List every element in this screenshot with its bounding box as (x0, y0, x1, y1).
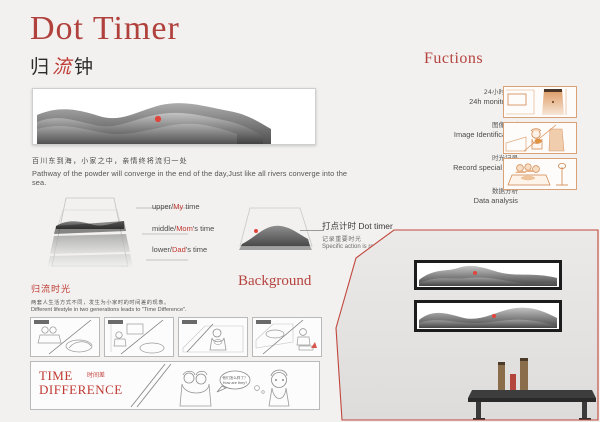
person-cooking-thumb (503, 122, 577, 154)
fuction-en: 24h monitoring (410, 97, 518, 106)
page-title: Dot Timer 归流钟 (30, 12, 180, 79)
interior-showcase (334, 228, 600, 422)
panel-noon (104, 317, 174, 357)
panel-time-tag (256, 320, 271, 324)
panel-time-tag (182, 320, 197, 324)
background-heading: Background (238, 273, 311, 290)
fuction-item-data-analysis: 数据分析 Data analysis (410, 185, 518, 205)
bubble-text-cn: 他们怎么样了？ (222, 375, 247, 380)
fuction-item-record-time: 时光记录 Record special time (410, 152, 518, 172)
title-cn-accent: 流 (52, 56, 74, 78)
fuction-en: Record special time (410, 163, 518, 172)
room-screen-thumb (503, 86, 577, 118)
dot-timer-leader-line (300, 230, 324, 231)
title-cn-right: 钟 (74, 56, 96, 78)
background-sub-cn: 两套人生活方式不同，发生为小家时的时间差的现象。 (31, 299, 187, 306)
panel-evening (178, 317, 248, 357)
fuction-cn: 时光记录 (410, 152, 518, 162)
time-difference-illustration: 他们怎么样了？ How are they? (127, 362, 319, 409)
time-difference-wordmark: TIME DIFFERENCE (39, 369, 123, 397)
title-cn-left: 归 (30, 56, 52, 78)
fuction-item-monitoring: 24小时监测 24h monitoring (410, 86, 518, 106)
fuction-cn: 数据分析 (410, 185, 518, 195)
title-chinese: 归流钟 (30, 52, 180, 79)
fuctions-heading: Fuctions (424, 50, 483, 68)
hero-caption-cn: 百川东到海，小家之中，亲情终将流归一处 (32, 156, 362, 166)
fuction-item-image-identification: 图像识别 Image Identification (410, 119, 518, 139)
fuction-en: Data analysis (410, 196, 518, 205)
hero-product-banner (32, 88, 316, 145)
fuction-cn: 图像识别 (410, 119, 518, 129)
panel-morning (30, 317, 100, 357)
time-difference-cn: 时间差 (87, 370, 105, 379)
background-head-cn: 归流时光 (31, 282, 187, 295)
poster-root: Dot Timer 归流钟 (0, 0, 600, 422)
interior-showcase-svg (334, 228, 600, 422)
hero-caption: 百川东到海，小家之中，亲情终将流归一处 Pathway of the powde… (32, 156, 362, 187)
family-table-thumb (503, 158, 577, 190)
fuction-cn: 24小时监测 (410, 86, 518, 96)
background-sub-en: Different lifestyle in two generations l… (31, 307, 187, 313)
time-difference-strip: TIME DIFFERENCE 时间差 他们怎么样了？ How are they… (30, 361, 320, 410)
title-english: Dot Timer (30, 12, 180, 46)
bubble-text-en: How are they? (223, 381, 247, 385)
fuctions-list: 24小时监测 24h monitoring 图像识别 Image Identif… (410, 86, 518, 218)
panel-time-tag (34, 320, 49, 324)
fuction-en: Image Identification (410, 130, 518, 139)
family-table-illustration (504, 159, 576, 189)
background-subhead: 归流时光 两套人生活方式不同，发生为小家时的时间差的现象。 Different … (31, 282, 187, 313)
panel-night (252, 317, 322, 357)
hero-caption-en: Pathway of the powder will converge in t… (32, 169, 362, 187)
fuctions-thumbnails (503, 86, 575, 194)
hero-dot-landscape (33, 89, 315, 144)
time-difference-line1: TIME (39, 369, 123, 383)
room-screen-illustration (504, 87, 576, 117)
time-difference-line2: DIFFERENCE (39, 383, 123, 397)
panel-time-tag (108, 320, 123, 324)
person-cooking-illustration (504, 123, 576, 153)
storyboard-row (30, 317, 322, 357)
